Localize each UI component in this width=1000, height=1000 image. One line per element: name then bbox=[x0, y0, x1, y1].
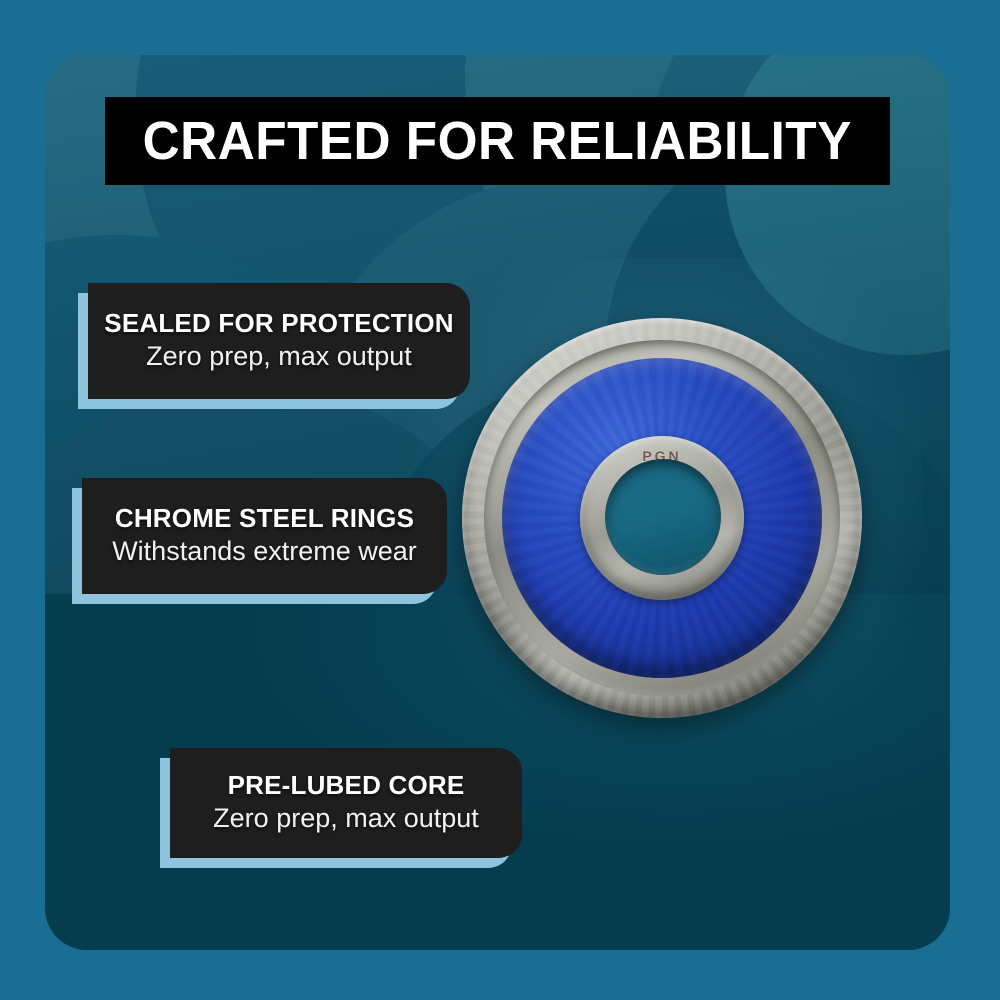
feature-callout-pre-lubed-core: PRE-LUBED CORE Zero prep, max output bbox=[170, 748, 522, 858]
callout-subtitle: Zero prep, max output bbox=[146, 340, 412, 372]
feature-callout-chrome-steel-rings: CHROME STEEL RINGS Withstands extreme we… bbox=[82, 478, 447, 594]
callout-title: PRE-LUBED CORE bbox=[228, 771, 465, 800]
callout-box: PRE-LUBED CORE Zero prep, max output bbox=[170, 748, 522, 858]
product-image-ball-bearing: PGN bbox=[462, 318, 862, 718]
page-title: CRAFTED FOR RELIABILITY bbox=[143, 114, 852, 168]
callout-title: CHROME STEEL RINGS bbox=[115, 504, 414, 533]
callout-title: SEALED FOR PROTECTION bbox=[104, 309, 453, 338]
feature-callout-sealed-for-protection: SEALED FOR PROTECTION Zero prep, max out… bbox=[88, 283, 470, 399]
callout-box: SEALED FOR PROTECTION Zero prep, max out… bbox=[88, 283, 470, 399]
outer-frame: CRAFTED FOR RELIABILITY PGN SEALED FOR P… bbox=[0, 0, 1000, 1000]
bearing-center-bore bbox=[605, 459, 721, 575]
callout-subtitle: Withstands extreme wear bbox=[112, 535, 417, 567]
callout-subtitle: Zero prep, max output bbox=[213, 802, 479, 834]
callout-box: CHROME STEEL RINGS Withstands extreme we… bbox=[82, 478, 447, 594]
page-title-bar: CRAFTED FOR RELIABILITY bbox=[105, 97, 890, 185]
